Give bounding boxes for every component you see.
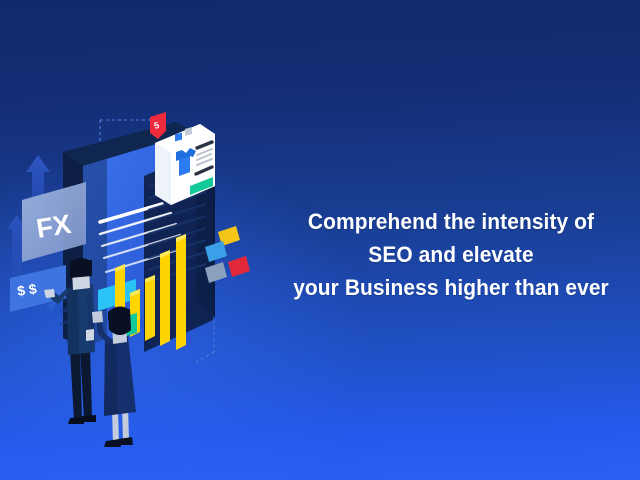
isometric-illustration: ? FX $ $ — [0, 0, 300, 480]
fx-card-label: FX — [34, 209, 73, 244]
headline-line-1: Comprehend the intensity of — [285, 205, 618, 238]
page-title: Comprehend the intensity of SEO and elev… — [285, 205, 618, 304]
chip-red — [228, 256, 250, 277]
woman-figure — [92, 306, 136, 447]
promo-banner: ? FX $ $ — [0, 0, 640, 480]
headline-line-2: SEO and elevate — [285, 238, 618, 271]
money-card-label: $ $ — [16, 280, 38, 299]
headline-line-3: your Business higher than ever — [285, 271, 618, 304]
